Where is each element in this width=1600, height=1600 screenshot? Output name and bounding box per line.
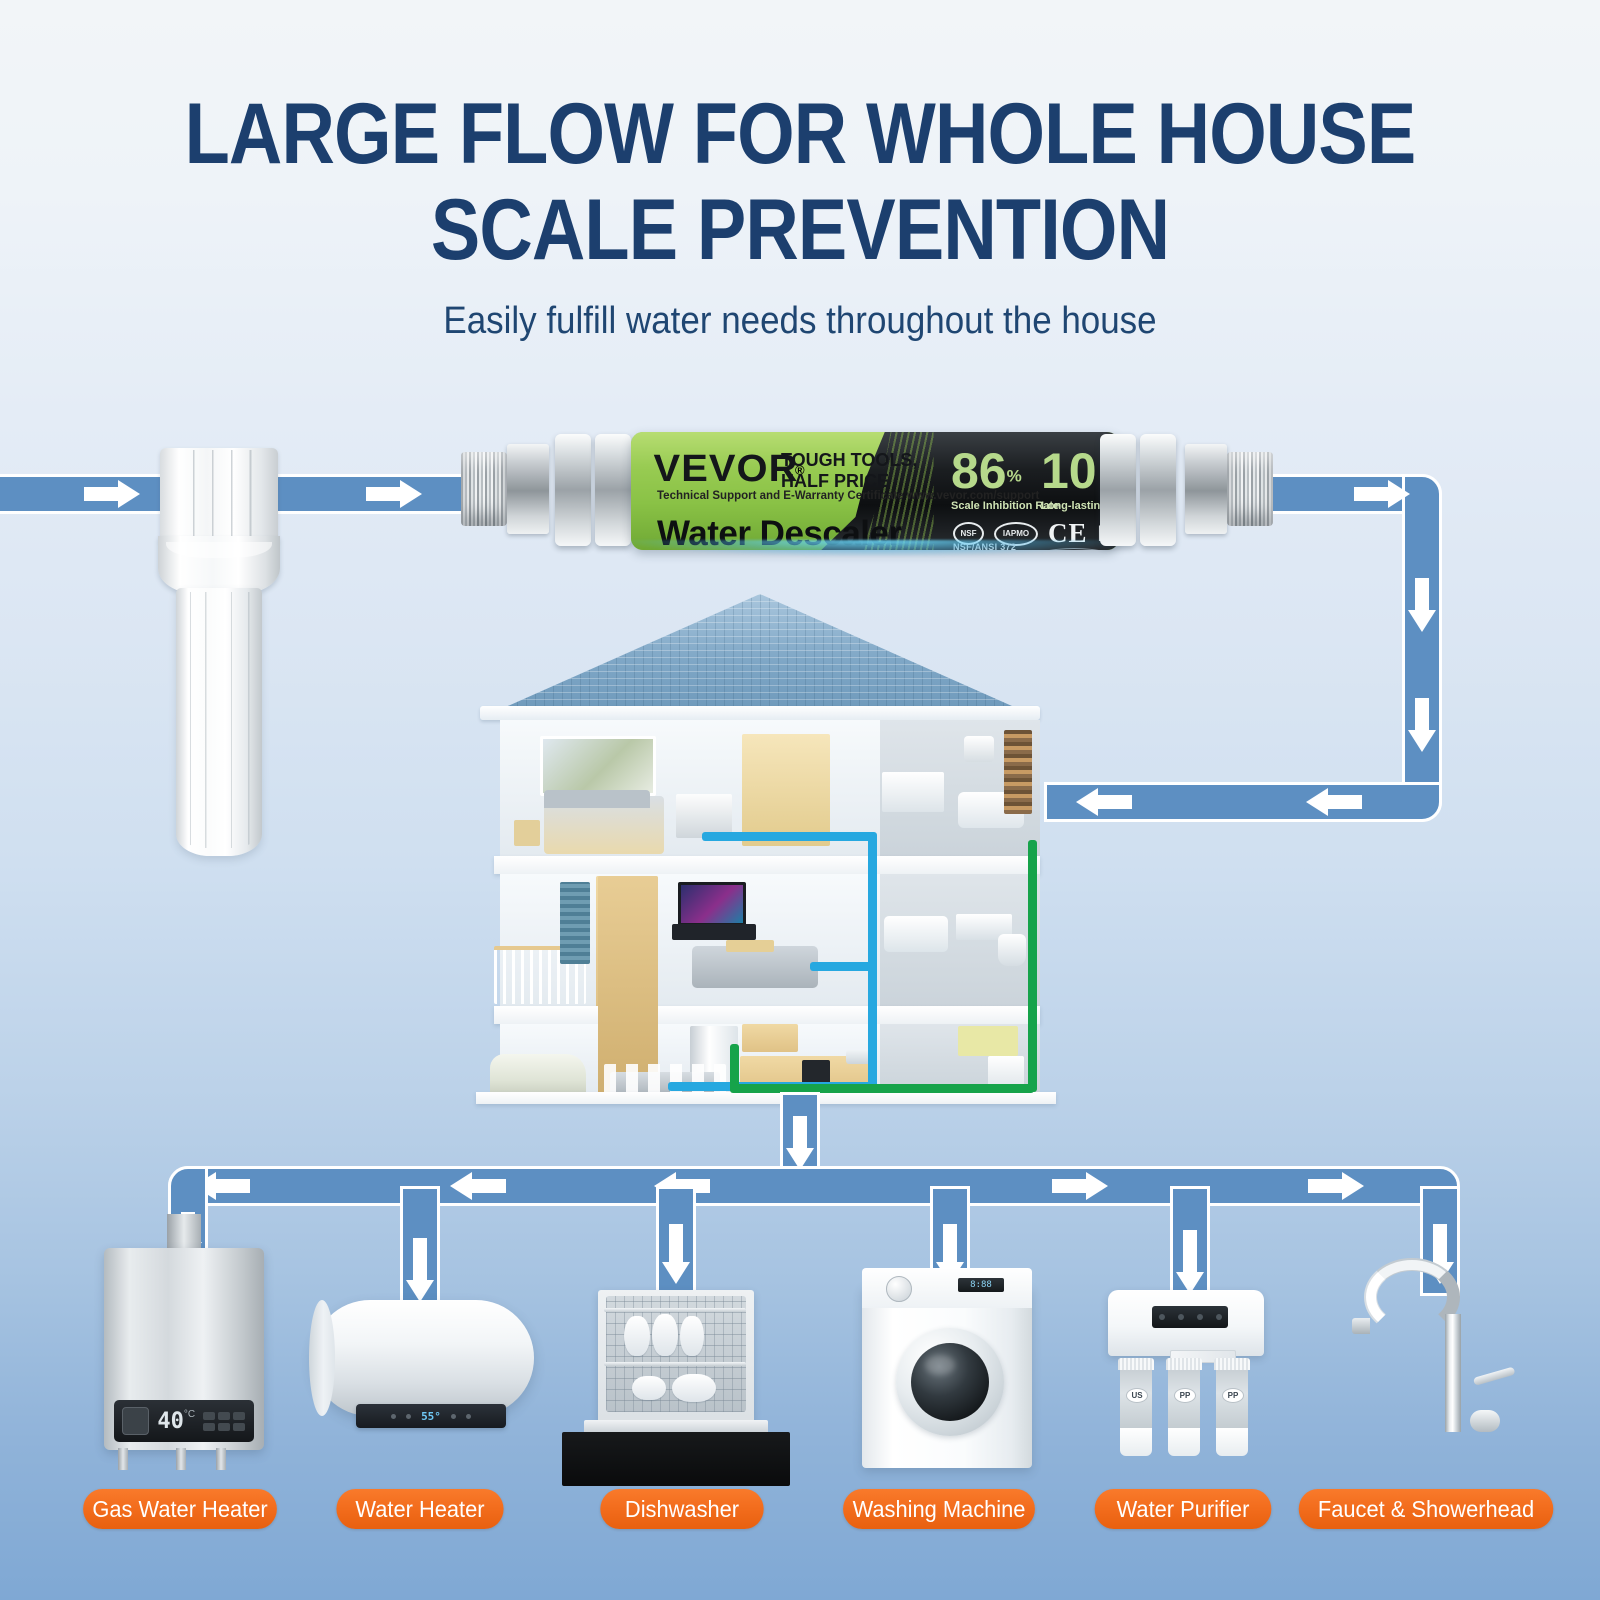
label-gas-water-heater: Gas Water Heater bbox=[83, 1489, 277, 1529]
label-faucet-showerhead: Faucet & Showerhead bbox=[1299, 1489, 1554, 1529]
gas-heater-temp-unit: °C bbox=[184, 1409, 195, 1420]
purifier-button-4[interactable] bbox=[1216, 1314, 1222, 1320]
tagline-line-2: HALF PRICE bbox=[781, 471, 917, 492]
middle-bathtub bbox=[884, 916, 948, 952]
appliance-gas-water-heater: 40°C bbox=[104, 1248, 264, 1478]
stat-1-sup: % bbox=[1007, 467, 1022, 486]
faucet-column bbox=[1445, 1314, 1461, 1432]
faucet-lever-handle[interactable] bbox=[1473, 1367, 1516, 1386]
faucet-spout-tip bbox=[1352, 1318, 1370, 1334]
second-floor-slab bbox=[494, 856, 1040, 874]
cartridge-3-bottom bbox=[1216, 1428, 1248, 1456]
gas-heater-btn-down[interactable] bbox=[203, 1423, 215, 1431]
outlet-thread-nipple-right bbox=[1227, 452, 1273, 526]
page-title: LARGE FLOW FOR WHOLE HOUSE SCALE PREVENT… bbox=[0, 86, 1600, 278]
gas-heater-btn-up[interactable] bbox=[203, 1412, 215, 1420]
stat-scale-inhibition: 86% Scale Inhibition Rate bbox=[951, 446, 1022, 496]
label-washing-machine: Washing Machine bbox=[843, 1489, 1035, 1529]
sofa bbox=[692, 946, 818, 988]
gas-heater-control-panel: 40°C bbox=[114, 1400, 254, 1442]
water-heater-indicator-4 bbox=[466, 1414, 471, 1419]
water-heater-display: 55° bbox=[421, 1410, 441, 1423]
infographic-page: LARGE FLOW FOR WHOLE HOUSE SCALE PREVENT… bbox=[0, 0, 1600, 1600]
label-dishwasher: Dishwasher bbox=[600, 1489, 763, 1529]
water-descaler-product: VEVOR® TOUGH TOOLS, HALF PRICE Technical… bbox=[455, 408, 1275, 572]
cartridge-3-cap bbox=[1214, 1358, 1250, 1370]
roof-eave bbox=[480, 706, 1040, 720]
brand-tagline: TOUGH TOOLS, HALF PRICE bbox=[781, 450, 917, 492]
label-water-heater: Water Heater bbox=[336, 1489, 503, 1529]
purifier-button-3[interactable] bbox=[1197, 1314, 1203, 1320]
house-drain-branch-kitchen bbox=[730, 1044, 739, 1090]
water-heater-tank bbox=[312, 1300, 534, 1416]
gas-heater-connector-right bbox=[216, 1448, 226, 1470]
stat-1-value: 86 bbox=[951, 443, 1007, 499]
chrome-ring-left bbox=[555, 434, 591, 546]
washing-machine-drum bbox=[911, 1343, 989, 1421]
dishwasher-pot bbox=[672, 1374, 716, 1402]
appliance-dishwasher bbox=[598, 1290, 788, 1490]
house-drain-branch-lower bbox=[730, 1084, 1034, 1093]
pre-filter-housing bbox=[160, 448, 278, 856]
chrome-ring-right bbox=[1100, 434, 1136, 546]
vevor-wordmark: VEVOR bbox=[654, 448, 799, 491]
water-heater-indicator-3 bbox=[451, 1414, 456, 1419]
nightstand bbox=[514, 820, 540, 846]
gas-heater-btn-power[interactable] bbox=[233, 1412, 245, 1420]
house-cold-water-branch-mid bbox=[810, 962, 872, 971]
distribution-manifold bbox=[168, 1166, 1460, 1206]
upper-bathroom-vanity bbox=[882, 772, 944, 812]
page-subtitle: Easily fulfill water needs throughout th… bbox=[64, 300, 1536, 343]
filter-cartridge-3: PP bbox=[1214, 1358, 1250, 1456]
dishwasher-plate-1 bbox=[624, 1316, 650, 1356]
towel-roll bbox=[964, 736, 994, 762]
coffee-table bbox=[726, 940, 774, 952]
chrome-ring-right-2 bbox=[1140, 434, 1176, 546]
kitchen-upper-cabinets bbox=[742, 1024, 798, 1052]
filter-collar bbox=[158, 536, 280, 594]
dishwasher-rail-top bbox=[604, 1308, 746, 1312]
dishwasher-plate-3 bbox=[680, 1316, 704, 1356]
tv-stand bbox=[672, 924, 756, 940]
faucet-mount-base bbox=[1430, 1418, 1476, 1460]
filter-cartridge-1: US bbox=[1118, 1358, 1154, 1456]
mosaic-wall bbox=[1004, 730, 1032, 814]
dishwasher-rail-mid bbox=[604, 1362, 746, 1366]
filter-bowl-ribs bbox=[176, 592, 262, 848]
appliance-water-purifier: US PP PP bbox=[1108, 1290, 1268, 1470]
filter-cap-ribs bbox=[160, 450, 278, 538]
tagline-line-1: TOUGH TOOLS, bbox=[781, 450, 917, 471]
wardrobe bbox=[742, 734, 830, 846]
inlet-thread-nipple-left bbox=[461, 452, 507, 526]
cartridge-1-cap bbox=[1118, 1358, 1154, 1370]
purifier-button-2[interactable] bbox=[1178, 1314, 1184, 1320]
cartridge-2-bottom bbox=[1168, 1428, 1200, 1456]
house-cold-water-riser bbox=[868, 832, 877, 1090]
cartridge-2-label: PP bbox=[1174, 1388, 1196, 1403]
house-cutaway-illustration bbox=[480, 594, 1040, 1104]
toilet bbox=[998, 934, 1026, 966]
bed-headboard bbox=[544, 790, 650, 808]
laundry-cabinet bbox=[958, 1026, 1018, 1056]
gas-heater-connector-mid bbox=[176, 1448, 186, 1470]
water-heater-end-cap bbox=[309, 1300, 335, 1416]
washing-machine-program-dial[interactable] bbox=[886, 1276, 912, 1302]
first-floor-slab bbox=[494, 1006, 1040, 1024]
gas-heater-btn-set[interactable] bbox=[233, 1423, 245, 1431]
purifier-button-1[interactable] bbox=[1159, 1314, 1165, 1320]
house-drain-riser bbox=[1028, 840, 1037, 1092]
dishwasher-bowl-1 bbox=[632, 1376, 666, 1400]
washing-machine-door[interactable] bbox=[896, 1328, 1004, 1436]
water-purifier-display bbox=[1152, 1306, 1228, 1328]
brick-accent-wall bbox=[560, 882, 590, 964]
washing-machine-display: 8:88 bbox=[958, 1278, 1004, 1292]
gas-heater-btn-mode[interactable] bbox=[218, 1412, 230, 1420]
filter-cartridge-2: PP bbox=[1166, 1358, 1202, 1456]
outlet-pipe-vertical bbox=[1402, 474, 1442, 822]
stat-longevity: 10 years Long-lasting Effect bbox=[1041, 446, 1097, 496]
cartridge-2-cap bbox=[1166, 1358, 1202, 1370]
gas-heater-btn-eco[interactable] bbox=[218, 1423, 230, 1431]
gas-heater-buttons[interactable] bbox=[203, 1412, 246, 1431]
wall-art bbox=[540, 736, 656, 796]
house-cold-water-branch-upper bbox=[702, 832, 874, 841]
appliance-water-heater: 55° bbox=[312, 1300, 534, 1440]
descaler-body-tube: VEVOR® TOUGH TOOLS, HALF PRICE Technical… bbox=[631, 432, 1119, 550]
roof-tiles-texture bbox=[490, 594, 1030, 714]
chrome-ring-left-2 bbox=[595, 434, 631, 546]
water-heater-control-panel: 55° bbox=[356, 1404, 506, 1428]
gas-heater-connector-left bbox=[118, 1448, 128, 1470]
hex-nut-right bbox=[1185, 444, 1227, 534]
ground-slab bbox=[476, 1092, 1056, 1104]
cartridge-3-label: PP bbox=[1222, 1388, 1244, 1403]
headline-line-2: SCALE PREVENTION bbox=[112, 182, 1488, 278]
water-heater-indicator-2 bbox=[406, 1414, 411, 1419]
gas-heater-temperature-display: 40°C bbox=[157, 1409, 195, 1434]
appliance-washing-machine: 8:88 bbox=[862, 1268, 1032, 1478]
headline-line-1: LARGE FLOW FOR WHOLE HOUSE bbox=[112, 86, 1488, 182]
label-water-purifier: Water Purifier bbox=[1095, 1489, 1272, 1529]
flame-shield-icon bbox=[122, 1407, 149, 1435]
dishwasher-countertop bbox=[562, 1432, 790, 1486]
hex-nut-left bbox=[507, 444, 549, 534]
stat-2-value: 10 bbox=[1041, 443, 1097, 499]
label-bottom-glow bbox=[631, 540, 1119, 556]
cartridge-1-label: US bbox=[1126, 1388, 1148, 1403]
television bbox=[678, 882, 746, 926]
gas-heater-temp-value: 40 bbox=[157, 1409, 184, 1434]
gas-heater-flue bbox=[167, 1214, 201, 1250]
water-heater-indicator-1 bbox=[391, 1414, 396, 1419]
cartridge-1-bottom bbox=[1120, 1428, 1152, 1456]
appliance-faucet bbox=[1352, 1258, 1532, 1478]
washing-machine-control-panel: 8:88 bbox=[862, 1268, 1032, 1308]
dishwasher-plate-2 bbox=[652, 1314, 678, 1356]
